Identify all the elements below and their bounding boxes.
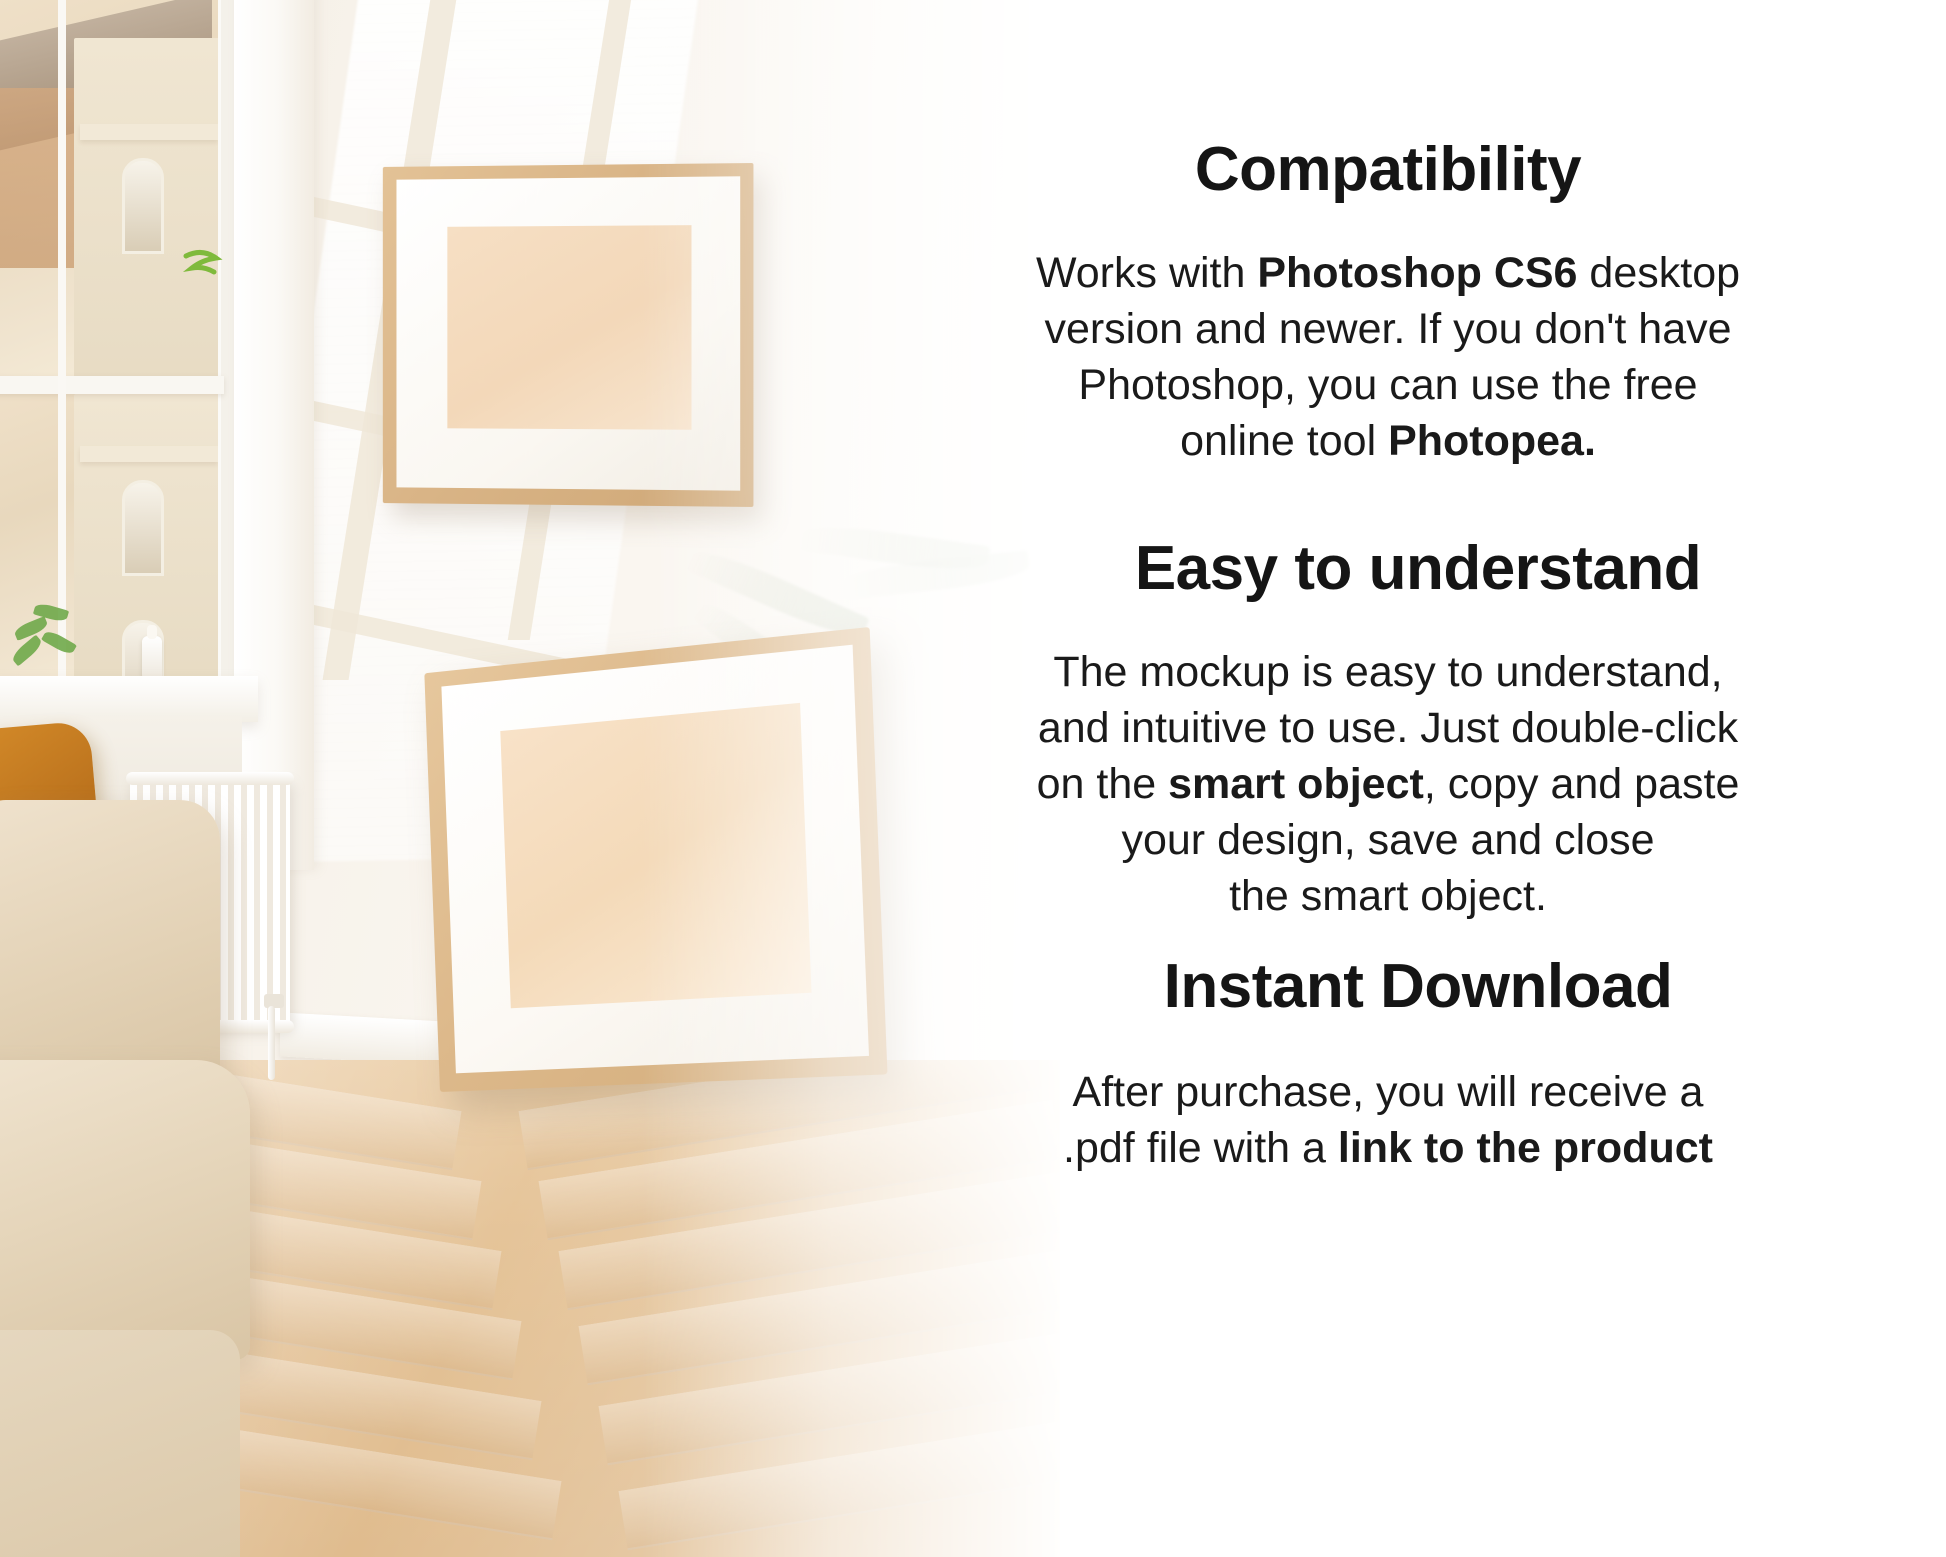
plant-leaf bbox=[41, 628, 77, 656]
instant-download-paragraph: After purchase, you will receive a.pdf f… bbox=[830, 1065, 1946, 1177]
window-pane-upper bbox=[0, 0, 218, 378]
plant-leaf bbox=[10, 635, 44, 667]
sofa-seat-cushion bbox=[0, 1060, 250, 1360]
feature-text-column: Compatibility Works with Photoshop CS6 d… bbox=[830, 0, 1946, 1557]
radiator-top-cap bbox=[126, 772, 294, 785]
radiator-pipe bbox=[268, 1006, 275, 1080]
compatibility-paragraph: Works with Photoshop CS6 desktopversion … bbox=[830, 246, 1946, 470]
facade-window-1 bbox=[122, 158, 164, 254]
window-jamb bbox=[234, 0, 314, 870]
easy-to-understand-heading: Easy to understand bbox=[830, 537, 1946, 601]
feature-block-easy-to-understand: Easy to understand The mockup is easy to… bbox=[830, 537, 1946, 925]
window-sash-right bbox=[58, 0, 66, 690]
window-handle-icon bbox=[182, 248, 226, 278]
infographic-page: Compatibility Works with Photoshop CS6 d… bbox=[0, 0, 1946, 1557]
window-mullion bbox=[0, 376, 224, 394]
feature-block-compatibility: Compatibility Works with Photoshop CS6 d… bbox=[830, 138, 1946, 470]
facade-window-2 bbox=[122, 480, 164, 576]
compatibility-heading: Compatibility bbox=[830, 138, 1946, 202]
building-facade-upper bbox=[74, 38, 218, 378]
easy-to-understand-paragraph: The mockup is easy to understand,and int… bbox=[830, 645, 1946, 924]
plant-on-sill bbox=[8, 592, 98, 672]
feature-block-instant-download: Instant Download After purchase, you wil… bbox=[830, 955, 1946, 1177]
cornice-upper bbox=[80, 124, 218, 140]
radiator-valve bbox=[264, 994, 284, 1008]
cornice-lower bbox=[80, 446, 218, 462]
sofa-base bbox=[0, 1330, 240, 1557]
window bbox=[0, 0, 234, 690]
instant-download-heading: Instant Download bbox=[830, 955, 1946, 1019]
sofa-armrest bbox=[0, 800, 220, 1100]
